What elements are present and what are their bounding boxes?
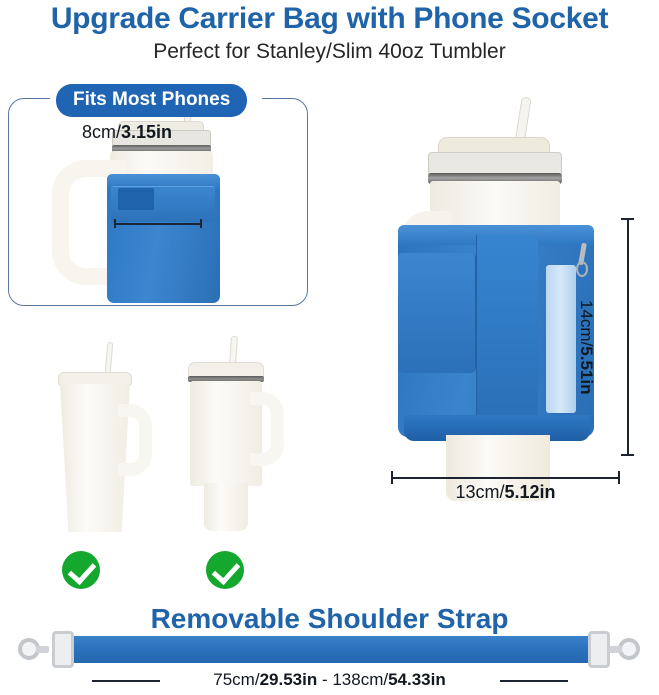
- pocket-width-label: 8cm/3.15in: [82, 122, 172, 143]
- strap-slider-buckle-right: [588, 631, 610, 668]
- lobster-clasp-right-icon: [610, 636, 644, 663]
- tumbler-base: [204, 483, 248, 531]
- phone-pocket-slot: [118, 188, 154, 210]
- strap-min-imperial: 29.53in: [260, 670, 318, 689]
- height-dimension-line: [621, 218, 634, 456]
- shoulder-strap: [66, 636, 596, 663]
- dimension-rule: [114, 223, 202, 225]
- strap-max-imperial: 54.33in: [388, 670, 446, 689]
- zipper-ring-icon: [576, 261, 588, 277]
- stanley-tumbler-illustration: [168, 340, 308, 550]
- height-metric: 14cm/: [577, 300, 596, 346]
- product-infographic: Upgrade Carrier Bag with Phone Socket Pe…: [0, 0, 659, 695]
- strap-range-separator: -: [317, 670, 332, 689]
- strap-section-title: Removable Shoulder Strap: [0, 603, 659, 635]
- lobster-clasp-left-icon: [14, 636, 48, 663]
- compatibility-check-slim: [62, 551, 100, 589]
- strap-max-metric: 138cm/: [332, 670, 388, 689]
- strap-slider-buckle-left: [52, 631, 74, 668]
- strap-length-label: 75cm/29.53in - 138cm/54.33in: [0, 670, 659, 690]
- straw-icon: [105, 342, 114, 374]
- page-subtitle: Perfect for Stanley/Slim 40oz Tumbler: [0, 40, 659, 64]
- side-pocket: [476, 235, 538, 425]
- front-pocket: [398, 253, 476, 373]
- pocket-width-metric: 8cm/: [82, 122, 121, 142]
- tumbler-handle: [118, 404, 152, 476]
- dimension-rule: [627, 218, 629, 456]
- height-imperial: 5.51in: [577, 346, 596, 394]
- width-dimension-label: 13cm/5.12in: [391, 482, 620, 503]
- width-metric: 13cm/: [455, 482, 504, 502]
- tumbler-handle: [250, 392, 284, 466]
- width-imperial: 5.12in: [505, 482, 556, 502]
- slim-tumbler-illustration: [38, 352, 168, 547]
- pocket-width-imperial: 3.15in: [121, 122, 172, 142]
- clasp-stem: [609, 646, 622, 653]
- accent-panel: [546, 265, 576, 413]
- fits-most-phones-badge: Fits Most Phones: [56, 84, 247, 117]
- tumbler-lid: [58, 372, 132, 386]
- compatibility-check-stanley: [206, 551, 244, 589]
- dimension-rule: [391, 477, 620, 479]
- page-title: Upgrade Carrier Bag with Phone Socket: [0, 2, 659, 36]
- dimension-cap-bottom: [621, 454, 634, 456]
- pocket-width-dimension-line: [114, 219, 202, 228]
- height-dimension-label: 14cm/5.51in: [576, 300, 596, 395]
- strap-min-metric: 75cm/: [213, 670, 259, 689]
- clasp-stem: [36, 646, 49, 653]
